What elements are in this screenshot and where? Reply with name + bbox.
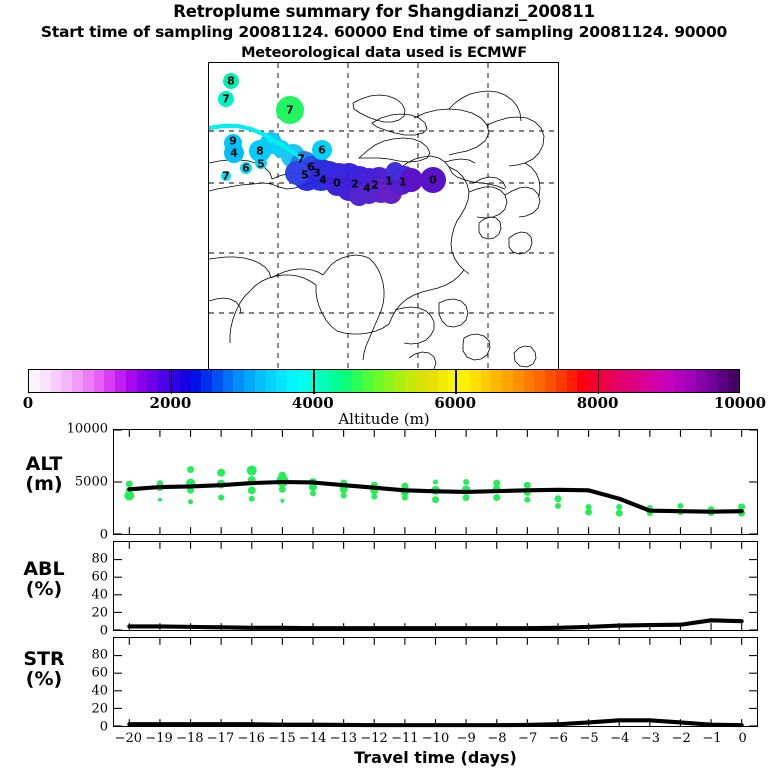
retroplume-map: 8 7 7 9 4 8 5 6 7 6 7 6 5 3 4 0 2 4 2 1 …: [208, 62, 559, 372]
x-tick-label: −6: [549, 731, 568, 746]
svg-text:8: 8: [256, 145, 264, 158]
x-axis-tick-labels: −20−19−18−17−16−15−14−13−12−11−10−9−8−7−…: [113, 731, 758, 749]
y-tick-label: 5000: [75, 475, 108, 490]
x-axis-title: Travel time (days): [113, 748, 758, 767]
y-tick-label: 40: [91, 684, 108, 699]
colorbar-swatch: [158, 370, 169, 392]
str-timeseries-panel: [113, 637, 758, 727]
colorbar-swatch: [373, 370, 384, 392]
colorbar-swatch: [674, 370, 685, 392]
colorbar-swatch: [502, 370, 513, 392]
colorbar-swatch: [298, 370, 309, 392]
x-tick-label: 0: [739, 731, 747, 746]
colorbar-swatch: [51, 370, 62, 392]
x-tick-label: −19: [145, 731, 172, 746]
x-tick-label: −10: [422, 731, 449, 746]
colorbar-swatch: [61, 370, 72, 392]
colorbar-swatch: [244, 370, 255, 392]
colorbar-swatch: [545, 370, 556, 392]
svg-text:7: 7: [297, 153, 305, 166]
svg-text:4: 4: [230, 147, 238, 160]
colorbar-swatch: [223, 370, 234, 392]
colorbar-swatch: [631, 370, 642, 392]
colorbar-swatch: [319, 370, 330, 392]
svg-text:0: 0: [429, 174, 437, 187]
meteorology-subtitle: Meteorological data used is ECMWF: [0, 45, 768, 61]
colorbar-title: Altitude (m): [0, 410, 768, 428]
abl-timeseries-panel: [113, 541, 758, 631]
x-tick-label: −13: [330, 731, 357, 746]
x-tick-label: −16: [237, 731, 264, 746]
svg-text:6: 6: [242, 162, 250, 175]
svg-text:1: 1: [385, 175, 393, 188]
colorbar-swatch: [104, 370, 115, 392]
y-tick-label: 20: [91, 702, 108, 717]
colorbar-swatch: [717, 370, 728, 392]
colorbar-swatch: [115, 370, 126, 392]
colorbar-swatch: [341, 370, 352, 392]
colorbar-swatch: [534, 370, 545, 392]
y-tick-label: 60: [91, 666, 108, 681]
colorbar-swatch: [40, 370, 51, 392]
colorbar-swatch: [137, 370, 148, 392]
x-tick-label: −3: [641, 731, 660, 746]
colorbar-swatch: [362, 370, 373, 392]
x-tick-label: −11: [391, 731, 418, 746]
colorbar-swatch: [352, 370, 363, 392]
x-tick-label: −12: [360, 731, 387, 746]
x-tick-label: −14: [299, 731, 326, 746]
colorbar-swatch: [384, 370, 395, 392]
svg-text:5: 5: [301, 169, 309, 182]
colorbar-swatch: [599, 370, 610, 392]
colorbar-swatch: [513, 370, 524, 392]
colorbar-swatch: [276, 370, 287, 392]
colorbar-swatch: [126, 370, 137, 392]
colorbar-swatch: [190, 370, 201, 392]
x-tick-label: −7: [518, 731, 537, 746]
colorbar-divider: [455, 370, 457, 394]
colorbar-swatch: [459, 370, 470, 392]
colorbar-swatch: [491, 370, 502, 392]
svg-text:0: 0: [333, 177, 341, 190]
colorbar-swatch: [663, 370, 674, 392]
colorbar-swatch: [201, 370, 212, 392]
page-title: Retroplume summary for Shangdianzi_20081…: [0, 2, 768, 21]
colorbar-swatch: [83, 370, 94, 392]
colorbar-swatch: [438, 370, 449, 392]
colorbar-swatch: [653, 370, 664, 392]
colorbar-swatch: [577, 370, 588, 392]
alt-timeseries-panel: [113, 429, 758, 535]
colorbar-divider: [171, 370, 173, 394]
x-tick-label: −8: [487, 731, 506, 746]
alt-y-tick-labels: 0500010000: [62, 429, 108, 535]
y-tick-label: 80: [91, 648, 108, 663]
colorbar-swatch: [72, 370, 83, 392]
colorbar-swatch: [147, 370, 158, 392]
x-tick-label: −9: [457, 731, 476, 746]
colorbar-swatch: [448, 370, 459, 392]
y-tick-label: 10000: [67, 422, 108, 437]
colorbar-gradient: [28, 369, 740, 393]
colorbar-divider: [598, 370, 600, 394]
x-tick-label: −2: [672, 731, 691, 746]
colorbar-swatch: [427, 370, 438, 392]
abl-y-tick-labels: 020406080: [62, 541, 108, 631]
colorbar-swatch: [696, 370, 707, 392]
colorbar-swatch: [287, 370, 298, 392]
map-gridlines: [209, 63, 558, 371]
colorbar-swatch: [610, 370, 621, 392]
x-tick-label: −4: [610, 731, 629, 746]
colorbar: 0200040006000800010000 Altitude (m): [28, 369, 740, 393]
colorbar-swatch: [266, 370, 277, 392]
svg-text:8: 8: [227, 75, 235, 88]
colorbar-swatch: [620, 370, 631, 392]
colorbar-swatch: [330, 370, 341, 392]
svg-text:4: 4: [319, 174, 327, 187]
colorbar-swatch: [212, 370, 223, 392]
svg-text:1: 1: [399, 176, 407, 189]
svg-text:2: 2: [371, 179, 379, 192]
colorbar-swatch: [405, 370, 416, 392]
abl-chart: [114, 542, 757, 630]
alt-chart: [114, 430, 757, 534]
colorbar-swatch: [567, 370, 578, 392]
colorbar-swatch: [29, 370, 40, 392]
x-tick-marks: [129, 542, 741, 630]
colorbar-swatch: [416, 370, 427, 392]
y-tick-label: 0: [100, 720, 108, 735]
svg-text:4: 4: [363, 182, 371, 195]
colorbar-swatch: [395, 370, 406, 392]
x-tick-label: −18: [176, 731, 203, 746]
colorbar-swatch: [470, 370, 481, 392]
x-tick-marks: [129, 638, 741, 726]
colorbar-swatch: [233, 370, 244, 392]
sampling-time-subtitle: Start time of sampling 20081124. 60000 E…: [0, 23, 768, 41]
svg-text:6: 6: [318, 144, 326, 157]
colorbar-swatch: [556, 370, 567, 392]
svg-text:7: 7: [222, 170, 230, 183]
svg-text:2: 2: [351, 178, 359, 191]
str-y-tick-labels: 020406080: [62, 637, 108, 727]
svg-text:7: 7: [222, 93, 230, 106]
x-tick-label: −20: [115, 731, 142, 746]
x-tick-label: −17: [207, 731, 234, 746]
x-tick-label: −1: [702, 731, 721, 746]
y-tick-label: 60: [91, 570, 108, 585]
x-tick-label: −5: [579, 731, 598, 746]
map-canvas: 8 7 7 9 4 8 5 6 7 6 7 6 5 3 4 0 2 4 2 1 …: [209, 63, 558, 371]
colorbar-divider: [313, 370, 315, 394]
y-tick-marks: [114, 656, 757, 726]
x-tick-label: −15: [268, 731, 295, 746]
svg-text:7: 7: [286, 104, 294, 117]
y-tick-label: 80: [91, 552, 108, 567]
colorbar-swatch: [728, 370, 739, 392]
str-chart: [114, 638, 757, 726]
colorbar-swatch: [706, 370, 717, 392]
y-tick-marks: [114, 560, 757, 630]
colorbar-swatch: [685, 370, 696, 392]
y-tick-label: 40: [91, 588, 108, 603]
colorbar-swatch: [255, 370, 266, 392]
colorbar-swatch: [180, 370, 191, 392]
colorbar-swatch: [481, 370, 492, 392]
colorbar-swatch: [94, 370, 105, 392]
y-tick-label: 20: [91, 606, 108, 621]
colorbar-swatch: [642, 370, 653, 392]
svg-text:5: 5: [257, 158, 265, 171]
colorbar-swatch: [524, 370, 535, 392]
